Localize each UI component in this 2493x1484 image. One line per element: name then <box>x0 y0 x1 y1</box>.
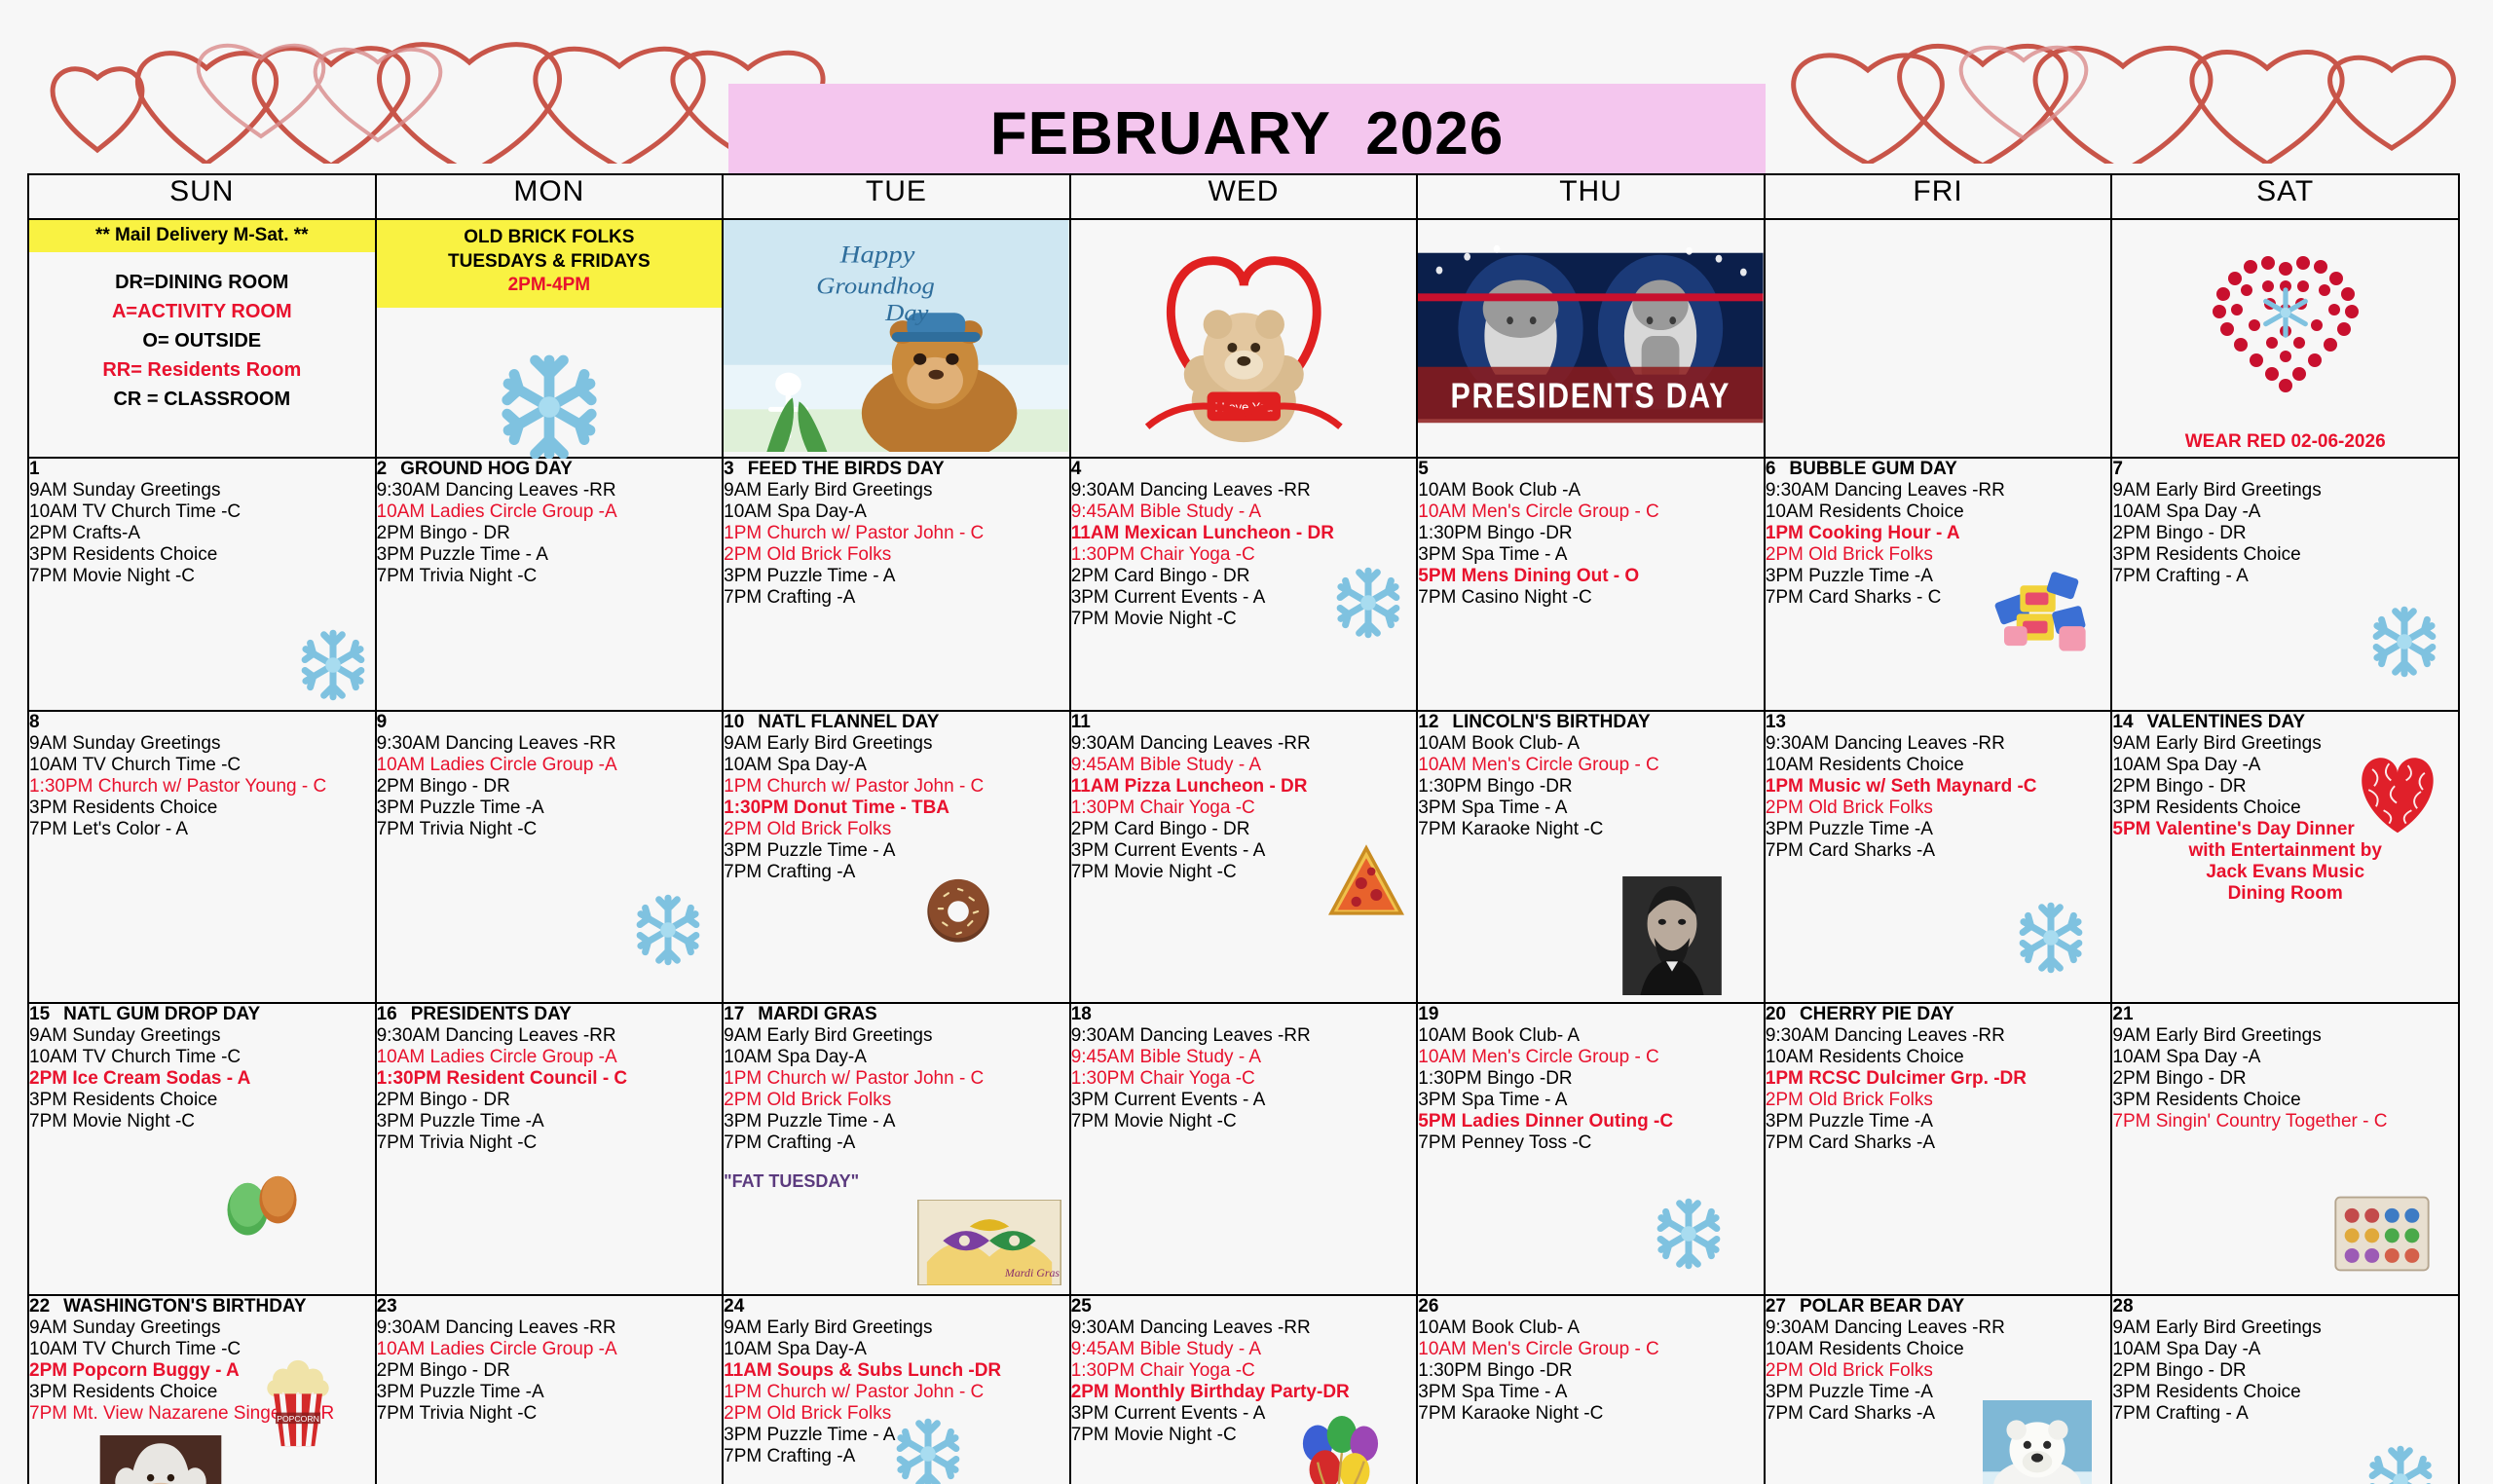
event-item[interactable]: 1:30PM Church w/ Pastor Young - C <box>29 776 375 798</box>
holiday-label: LINCOLN'S BIRTHDAY <box>1452 712 1650 732</box>
event-item[interactable]: 2PM Bingo - DR <box>377 1090 723 1111</box>
day-cell-9[interactable]: 99:30AM Dancing Leaves -RR10AM Ladies Ci… <box>376 711 724 1003</box>
event-item[interactable]: 9AM Early Bird Greetings <box>2112 1025 2458 1047</box>
event-item[interactable]: 9:45AM Bible Study - A <box>1071 1339 1417 1360</box>
day-cell-11[interactable]: 119:30AM Dancing Leaves -RR9:45AM Bible … <box>1070 711 1418 1003</box>
day-number: 28 <box>2112 1296 2133 1317</box>
day-header: 22WASHINGTON'S BIRTHDAY <box>29 1296 375 1317</box>
event-item[interactable]: 3PM Puzzle Time -A <box>377 1382 723 1403</box>
event-item[interactable]: 3PM Residents Choice <box>2112 1382 2458 1403</box>
info-empty-fri <box>1765 219 2112 458</box>
event-item[interactable]: 2PM Old Brick Folks <box>1766 1360 2111 1382</box>
week-row-3: 15NATL GUM DROP DAY9AM Sunday Greetings1… <box>28 1003 2459 1295</box>
day-header: 4 <box>1071 459 1417 480</box>
event-item[interactable]: 9:30AM Dancing Leaves -RR <box>1071 480 1417 501</box>
day-number: 18 <box>1071 1004 1092 1024</box>
event-item[interactable]: 10AM Residents Choice <box>1766 755 2111 776</box>
snowflake-icon <box>464 349 634 465</box>
weekday-sat: SAT <box>2111 174 2459 219</box>
event-item[interactable]: 10AM Men's Circle Group - C <box>1418 755 1764 776</box>
day-header: 8 <box>29 712 375 733</box>
day-number: 27 <box>1766 1296 1786 1317</box>
day-cell-1[interactable]: 19AM Sunday Greetings10AM TV Church Time… <box>28 458 376 711</box>
balloons-icon <box>1293 1416 1387 1484</box>
event-item[interactable]: 7PM Crafting -A <box>724 1132 1069 1154</box>
event-item[interactable]: 1PM RCSC Dulcimer Grp. -DR <box>1766 1068 2111 1090</box>
event-item[interactable]: 1:30PM Bingo -DR <box>1418 1360 1764 1382</box>
event-item[interactable]: 3PM Residents Choice <box>2112 544 2458 566</box>
event-item[interactable]: 7PM Trivia Night -C <box>377 1403 723 1425</box>
event-item[interactable]: 1PM Church w/ Pastor John - C <box>724 776 1069 798</box>
day-header: 14VALENTINES DAY <box>2112 712 2458 733</box>
mardi-gras-card-icon: Mardi Gras <box>917 1200 1061 1285</box>
event-item[interactable]: 10AM Men's Circle Group - C <box>1418 1047 1764 1068</box>
legend-line-o: O= OUTSIDE <box>29 326 375 355</box>
bingo-card-icon-wrap <box>2331 1192 2433 1280</box>
wear-red-cell: WEAR RED 02-06-2026 <box>2111 219 2459 458</box>
day-cell-25[interactable]: 259:30AM Dancing Leaves -RR9:45AM Bible … <box>1070 1295 1418 1484</box>
event-item[interactable]: 7PM Penney Toss -C <box>1418 1132 1764 1154</box>
snowflake-icon <box>1651 1196 1727 1272</box>
event-item[interactable]: 3PM Puzzle Time -A <box>377 1111 723 1132</box>
event-item[interactable]: 1:30PM Chair Yoga -C <box>1071 798 1417 819</box>
holiday-label: GROUND HOG DAY <box>400 459 573 479</box>
event-item[interactable]: 7PM Movie Night -C <box>1071 1111 1417 1132</box>
event-item[interactable]: 9:30AM Dancing Leaves -RR <box>377 1317 723 1339</box>
old-brick-folks-cell: OLD BRICK FOLKS TUESDAYS & FRIDAYS 2PM-4… <box>376 219 724 458</box>
event-item[interactable]: 10AM Men's Circle Group - C <box>1418 501 1764 523</box>
event-item[interactable]: 10AM Spa Day -A <box>2112 501 2458 523</box>
event-item[interactable]: 7PM Movie Night -C <box>29 566 375 587</box>
washington-portrait-photo <box>99 1435 222 1484</box>
info-row: ** Mail Delivery M-Sat. ** DR=DINING ROO… <box>28 219 2459 458</box>
day-header: 17MARDI GRAS <box>724 1004 1069 1025</box>
event-item[interactable]: 10AM TV Church Time -C <box>29 1047 375 1068</box>
event-item[interactable]: 11AM Soups & Subs Lunch -DR <box>724 1360 1069 1382</box>
donut-icon <box>923 876 993 946</box>
day-header: 28 <box>2112 1296 2458 1317</box>
day-number: 14 <box>2112 712 2133 732</box>
snowflake-icon <box>2366 604 2442 680</box>
event-item[interactable]: Jack Evans Music <box>2112 862 2458 883</box>
holiday-label: FEED THE BIRDS DAY <box>748 459 945 479</box>
day-cell-7[interactable]: 79AM Early Bird Greetings10AM Spa Day -A… <box>2111 458 2459 711</box>
event-item[interactable]: 7PM Trivia Night -C <box>377 819 723 840</box>
weekday-sun: SUN <box>28 174 376 219</box>
event-item[interactable]: 1PM Church w/ Pastor John - C <box>724 1068 1069 1090</box>
event-item[interactable]: 1PM Church w/ Pastor John - C <box>724 1382 1069 1403</box>
donut-icon-wrap <box>923 876 993 951</box>
day-cell-13[interactable]: 139:30AM Dancing Leaves -RR10AM Resident… <box>1765 711 2112 1003</box>
event-item[interactable]: 10AM Ladies Circle Group -A <box>377 755 723 776</box>
day-header: 2GROUND HOG DAY <box>377 459 723 480</box>
day-cell-21[interactable]: 219AM Early Bird Greetings10AM Spa Day -… <box>2111 1003 2459 1295</box>
day-header: 25 <box>1071 1296 1417 1317</box>
day-header: 20CHERRY PIE DAY <box>1766 1004 2111 1025</box>
event-item[interactable]: 7PM Crafting -A <box>724 587 1069 609</box>
snowflake-icon <box>295 627 371 703</box>
day-cell-28[interactable]: 289AM Early Bird Greetings10AM Spa Day -… <box>2111 1295 2459 1484</box>
day-number: 2 <box>377 459 388 479</box>
page-title: FEBRUARY 2026 <box>990 99 1504 168</box>
event-item[interactable]: 1:30PM Bingo -DR <box>1418 523 1764 544</box>
day-number: 26 <box>1418 1296 1438 1317</box>
snowflake-icon-wrap <box>2363 1443 2438 1484</box>
svg-text:Happy: Happy <box>839 241 916 268</box>
event-item[interactable]: 10AM Ladies Circle Group -A <box>377 1047 723 1068</box>
event-item[interactable]: 3PM Puzzle Time -A <box>377 798 723 819</box>
day-number: 13 <box>1766 712 1786 732</box>
event-item[interactable]: 2PM Ice Cream Sodas - A <box>29 1068 375 1090</box>
day-cell-17[interactable]: 17MARDI GRAS9AM Early Bird Greetings10AM… <box>723 1003 1070 1295</box>
wear-red-note: WEAR RED 02-06-2026 <box>2112 431 2458 453</box>
day-header: 5 <box>1418 459 1764 480</box>
event-item[interactable]: 10AM Residents Choice <box>1766 1047 2111 1068</box>
event-item[interactable]: 10AM Book Club- A <box>1418 1317 1764 1339</box>
weekday-header-row: SUN MON TUE WED THU FRI SAT <box>28 174 2459 219</box>
event-item[interactable]: 9:30AM Dancing Leaves -RR <box>377 480 723 501</box>
event-item[interactable]: 7PM Trivia Night -C <box>377 566 723 587</box>
bingo-card-icon <box>2331 1192 2433 1276</box>
event-item[interactable]: 9:30AM Dancing Leaves -RR <box>1071 1317 1417 1339</box>
month-title-box: FEBRUARY 2026 <box>728 84 1766 183</box>
presidents-day-banner-icon: PRESIDENTS DAY <box>1418 220 1764 452</box>
weekday-fri: FRI <box>1765 174 2112 219</box>
event-item[interactable]: 2PM Old Brick Folks <box>724 1090 1069 1111</box>
snowflake-icon <box>630 892 706 968</box>
event-item[interactable]: 9:30AM Dancing Leaves -RR <box>377 1025 723 1047</box>
event-item[interactable]: 2PM Bingo - DR <box>377 523 723 544</box>
event-item[interactable]: 2PM Old Brick Folks <box>1766 798 2111 819</box>
day-header: 16PRESIDENTS DAY <box>377 1004 723 1025</box>
day-cell-4[interactable]: 49:30AM Dancing Leaves -RR9:45AM Bible S… <box>1070 458 1418 711</box>
svg-text:POPCORN: POPCORN <box>277 1414 319 1424</box>
snowflake-icon-wrap <box>890 1416 966 1484</box>
event-item[interactable]: 1:30PM Donut Time - TBA <box>724 798 1069 819</box>
day-number: 1 <box>29 459 40 479</box>
obf-line2: TUESDAYS & FRIDAYS <box>379 250 721 275</box>
event-item[interactable]: 1:30PM Bingo -DR <box>1418 1068 1764 1090</box>
calendar-page: FEBRUARY 2026 SUN MON TUE WED THU FRI SA… <box>0 0 2493 1484</box>
obf-line3: 2PM-4PM <box>379 274 721 298</box>
event-item[interactable]: 3PM Spa Time - A <box>1418 798 1764 819</box>
event-item[interactable]: 9AM Early Bird Greetings <box>2112 480 2458 501</box>
event-item[interactable]: 10AM Spa Day -A <box>2112 1339 2458 1360</box>
snowflake-icon <box>2257 284 2314 341</box>
event-item[interactable]: 2PM Old Brick Folks <box>1766 1090 2111 1111</box>
event-item[interactable]: 10AM Spa Day-A <box>724 1047 1069 1068</box>
day-footnote: "FAT TUESDAY" <box>724 1171 1069 1192</box>
day-header: 7 <box>2112 459 2458 480</box>
event-item[interactable]: 2PM Monthly Birthday Party-DR <box>1071 1382 1417 1403</box>
holiday-label: NATL FLANNEL DAY <box>758 712 939 732</box>
event-item[interactable]: 11AM Pizza Luncheon - DR <box>1071 776 1417 798</box>
event-item[interactable]: with Entertainment by <box>2112 840 2458 862</box>
week-row-2: 89AM Sunday Greetings10AM TV Church Time… <box>28 711 2459 1003</box>
day-cell-15[interactable]: 15NATL GUM DROP DAY9AM Sunday Greetings1… <box>28 1003 376 1295</box>
popcorn-icon: POPCORN <box>250 1356 346 1450</box>
event-item[interactable]: 2PM Crafts-A <box>29 523 375 544</box>
snowflake-icon <box>2013 900 2089 976</box>
day-number: 24 <box>724 1296 744 1317</box>
popcorn-icon-wrap: POPCORN <box>250 1356 346 1455</box>
day-cell-26[interactable]: 2610AM Book Club- A10AM Men's Circle Gro… <box>1417 1295 1765 1484</box>
day-number: 23 <box>377 1296 397 1317</box>
event-item[interactable]: 9:30AM Dancing Leaves -RR <box>1766 1025 2111 1047</box>
event-item[interactable]: 1PM Church w/ Pastor John - C <box>724 523 1069 544</box>
event-item[interactable]: 3PM Puzzle Time - A <box>377 544 723 566</box>
groundhog-day-card-icon: Happy Groundhog Day <box>724 220 1069 452</box>
snowflake-icon-wrap <box>630 892 706 973</box>
day-number: 6 <box>1766 459 1776 479</box>
day-header: 18 <box>1071 1004 1417 1025</box>
event-item[interactable]: 3PM Residents Choice <box>29 1090 375 1111</box>
event-item[interactable]: 10AM TV Church Time -C <box>29 501 375 523</box>
event-item[interactable]: 9AM Sunday Greetings <box>29 1025 375 1047</box>
event-item[interactable]: 2PM Bingo - DR <box>377 1360 723 1382</box>
day-cell-16[interactable]: 16PRESIDENTS DAY9:30AM Dancing Leaves -R… <box>376 1003 724 1295</box>
holiday-label: POLAR BEAR DAY <box>1800 1296 1964 1317</box>
day-number: 16 <box>377 1004 397 1024</box>
event-item[interactable]: 9AM Sunday Greetings <box>29 1317 375 1339</box>
day-header: 26 <box>1418 1296 1764 1317</box>
event-item[interactable]: 9:30AM Dancing Leaves -RR <box>1766 480 2111 501</box>
svg-text:Mardi Gras: Mardi Gras <box>1004 1266 1060 1280</box>
event-item[interactable]: 9AM Early Bird Greetings <box>724 1317 1069 1339</box>
event-item[interactable]: 9AM Early Bird Greetings <box>724 480 1069 501</box>
event-item[interactable]: 10AM Book Club- A <box>1418 1025 1764 1047</box>
day-number: 25 <box>1071 1296 1092 1317</box>
snowflake-icon-wrap <box>2366 604 2442 685</box>
day-number: 15 <box>29 1004 50 1024</box>
event-item[interactable]: 1PM Music w/ Seth Maynard -C <box>1766 776 2111 798</box>
event-item[interactable]: 2PM Bingo - DR <box>2112 1068 2458 1090</box>
event-item[interactable]: 2PM Bingo - DR <box>2112 523 2458 544</box>
washington-portrait-wrap <box>99 1435 222 1484</box>
event-item[interactable]: 3PM Residents Choice <box>29 798 375 819</box>
snowflake-icon <box>890 1416 966 1484</box>
day-cell-10[interactable]: 10NATL FLANNEL DAY9AM Early Bird Greetin… <box>723 711 1070 1003</box>
event-item[interactable]: 10AM Spa Day-A <box>724 501 1069 523</box>
event-item[interactable]: 3PM Spa Time - A <box>1418 544 1764 566</box>
day-header: 6BUBBLE GUM DAY <box>1766 459 2111 480</box>
event-item[interactable]: 10AM Ladies Circle Group -A <box>377 501 723 523</box>
event-item[interactable]: 9AM Early Bird Greetings <box>724 733 1069 755</box>
day-header: 23 <box>377 1296 723 1317</box>
day-header: 3FEED THE BIRDS DAY <box>724 459 1069 480</box>
day-number: 12 <box>1418 712 1438 732</box>
day-cell-2[interactable]: 2GROUND HOG DAY9:30AM Dancing Leaves -RR… <box>376 458 724 711</box>
day-cell-5[interactable]: 510AM Book Club -A10AM Men's Circle Grou… <box>1417 458 1765 711</box>
event-item[interactable]: 1:30PM Chair Yoga -C <box>1071 544 1417 566</box>
legend-line-a: A=ACTIVITY ROOM <box>29 297 375 326</box>
event-item[interactable]: 7PM Let's Color - A <box>29 819 375 840</box>
event-item[interactable]: 1:30PM Chair Yoga -C <box>1071 1068 1417 1090</box>
event-item[interactable]: 9:45AM Bible Study - A <box>1071 1047 1417 1068</box>
event-item[interactable]: 9:30AM Dancing Leaves -RR <box>1766 733 2111 755</box>
event-item[interactable]: 10AM Residents Choice <box>1766 1339 2111 1360</box>
event-item[interactable]: 7PM Karaoke Night -C <box>1418 819 1764 840</box>
event-item[interactable]: 9:30AM Dancing Leaves -RR <box>1071 1025 1417 1047</box>
event-item[interactable]: 9AM Sunday Greetings <box>29 733 375 755</box>
event-item[interactable]: 9:30AM Dancing Leaves -RR <box>377 733 723 755</box>
valentine-bear-cell: I Love You <box>1070 219 1418 458</box>
legend-line-cr: CR = CLASSROOM <box>29 385 375 414</box>
event-item[interactable]: 7PM Karaoke Night -C <box>1418 1403 1764 1425</box>
event-item[interactable]: 3PM Residents Choice <box>29 544 375 566</box>
week-row-1: 19AM Sunday Greetings10AM TV Church Time… <box>28 458 2459 711</box>
event-item[interactable]: 7PM Card Sharks -A <box>1766 1132 2111 1154</box>
event-item[interactable]: 10AM Men's Circle Group - C <box>1418 1339 1764 1360</box>
lincoln-portrait-photo <box>1621 876 1723 995</box>
day-cell-24[interactable]: 249AM Early Bird Greetings10AM Spa Day-A… <box>723 1295 1070 1484</box>
event-item[interactable]: 10AM Book Club- A <box>1418 733 1764 755</box>
mardi-gras-mask-icon-wrap: Mardi Gras <box>917 1200 1061 1290</box>
day-cell-19[interactable]: 1910AM Book Club- A10AM Men's Circle Gro… <box>1417 1003 1765 1295</box>
weekday-thu: THU <box>1417 174 1765 219</box>
svg-text:Day: Day <box>884 301 929 325</box>
heart-of-hearts-icon-wrap <box>2345 745 2450 843</box>
event-item[interactable]: 10AM Spa Day -A <box>2112 1047 2458 1068</box>
day-cell-3[interactable]: 3FEED THE BIRDS DAY9AM Early Bird Greeti… <box>723 458 1070 711</box>
weekday-wed: WED <box>1070 174 1418 219</box>
day-cell-14[interactable]: 14VALENTINES DAY9AM Early Bird Greetings… <box>2111 711 2459 1003</box>
day-number: 7 <box>2112 459 2123 479</box>
day-cell-23[interactable]: 239:30AM Dancing Leaves -RR10AM Ladies C… <box>376 1295 724 1484</box>
event-item[interactable]: 1:30PM Resident Council - C <box>377 1068 723 1090</box>
day-number: 17 <box>724 1004 744 1024</box>
day-cell-18[interactable]: 189:30AM Dancing Leaves -RR9:45AM Bible … <box>1070 1003 1418 1295</box>
event-item[interactable]: 3PM Spa Time - A <box>1418 1382 1764 1403</box>
day-cell-27[interactable]: 27POLAR BEAR DAY9:30AM Dancing Leaves -R… <box>1765 1295 2112 1484</box>
svg-text:Groundhog: Groundhog <box>816 275 935 299</box>
event-item[interactable]: 3PM Puzzle Time - A <box>724 566 1069 587</box>
holiday-label: WASHINGTON'S BIRTHDAY <box>63 1296 306 1317</box>
day-cell-12[interactable]: 12LINCOLN'S BIRTHDAY10AM Book Club- A10A… <box>1417 711 1765 1003</box>
event-item[interactable]: 7PM Movie Night -C <box>29 1111 375 1132</box>
event-item[interactable]: 10AM TV Church Time -C <box>29 755 375 776</box>
event-item[interactable]: 10AM Ladies Circle Group -A <box>377 1339 723 1360</box>
gum-drops-icon <box>215 1163 309 1239</box>
event-item[interactable]: 11AM Mexican Luncheon - DR <box>1071 523 1417 544</box>
event-item[interactable]: 9:45AM Bible Study - A <box>1071 755 1417 776</box>
day-header: 9 <box>377 712 723 733</box>
event-item[interactable]: 7PM Card Sharks -A <box>1766 840 2111 862</box>
holiday-label: NATL GUM DROP DAY <box>63 1004 260 1024</box>
presidents-day-cell: PRESIDENTS DAY <box>1417 219 1765 458</box>
event-item[interactable]: 7PM Crafting -A <box>724 862 1069 883</box>
balloons-icon-wrap <box>1293 1416 1387 1484</box>
event-item[interactable]: 9:30AM Dancing Leaves -RR <box>1766 1317 2111 1339</box>
event-item[interactable]: 9:45AM Bible Study - A <box>1071 501 1417 523</box>
day-number: 10 <box>724 712 744 732</box>
event-item[interactable]: 2PM Old Brick Folks <box>724 544 1069 566</box>
page-banner: FEBRUARY 2026 <box>0 18 2493 164</box>
event-item[interactable]: 1PM Cooking Hour - A <box>1766 523 2111 544</box>
day-number: 4 <box>1071 459 1082 479</box>
event-item[interactable]: 5PM Mens Dining Out - O <box>1418 566 1764 587</box>
old-brick-folks-note: OLD BRICK FOLKS TUESDAYS & FRIDAYS 2PM-4… <box>377 220 723 308</box>
event-item[interactable]: 2PM Bingo - DR <box>377 776 723 798</box>
event-item[interactable]: 5PM Ladies Dinner Outing -C <box>1418 1111 1764 1132</box>
event-item[interactable]: 7PM Crafting - A <box>2112 566 2458 587</box>
event-item[interactable]: 1:30PM Bingo -DR <box>1418 776 1764 798</box>
holiday-label: PRESIDENTS DAY <box>411 1004 572 1024</box>
day-cell-6[interactable]: 6BUBBLE GUM DAY9:30AM Dancing Leaves -RR… <box>1765 458 2112 711</box>
event-item[interactable]: 3PM Current Events - A <box>1071 1090 1417 1111</box>
event-item[interactable]: 10AM Residents Choice <box>1766 501 2111 523</box>
obf-line1: OLD BRICK FOLKS <box>379 226 721 250</box>
polar-bear-photo-wrap <box>1982 1400 2093 1484</box>
groundhog-card-cell: Happy Groundhog Day <box>723 219 1070 458</box>
day-header: 21 <box>2112 1004 2458 1025</box>
day-number: 20 <box>1766 1004 1786 1024</box>
holiday-label: MARDI GRAS <box>758 1004 876 1024</box>
event-item[interactable]: 2PM Bingo - DR <box>2112 1360 2458 1382</box>
legend-line-rr: RR= Residents Room <box>29 355 375 385</box>
calendar-table: SUN MON TUE WED THU FRI SAT ** Mail Deli… <box>27 173 2460 1484</box>
event-item[interactable]: 10AM Book Club -A <box>1418 480 1764 501</box>
event-item[interactable]: 7PM Singin' Country Together - C <box>2112 1111 2458 1132</box>
event-item[interactable]: 3PM Puzzle Time - A <box>724 1111 1069 1132</box>
event-item[interactable]: 9AM Early Bird Greetings <box>2112 1317 2458 1339</box>
bubble-gum-icon-wrap <box>1990 559 2097 661</box>
event-item[interactable]: 3PM Spa Time - A <box>1418 1090 1764 1111</box>
holiday-label: CHERRY PIE DAY <box>1800 1004 1954 1024</box>
snowflake-icon-wrap <box>295 627 371 708</box>
day-cell-20[interactable]: 20CHERRY PIE DAY9:30AM Dancing Leaves -R… <box>1765 1003 2112 1295</box>
event-item[interactable]: 9AM Sunday Greetings <box>29 480 375 501</box>
event-item[interactable]: 7PM Crafting - A <box>2112 1403 2458 1425</box>
event-item[interactable]: 2PM Card Bingo - DR <box>1071 819 1417 840</box>
day-number: 3 <box>724 459 734 479</box>
svg-text:PRESIDENTS DAY: PRESIDENTS DAY <box>1451 377 1731 416</box>
day-cell-22[interactable]: 22WASHINGTON'S BIRTHDAY9AM Sunday Greeti… <box>28 1295 376 1484</box>
day-header: 24 <box>724 1296 1069 1317</box>
day-number: 22 <box>29 1296 50 1317</box>
event-item[interactable]: 3PM Puzzle Time -A <box>1766 1111 2111 1132</box>
event-item[interactable]: 1:30PM Chair Yoga -C <box>1071 1360 1417 1382</box>
day-header: 13 <box>1766 712 2111 733</box>
event-item[interactable]: 3PM Puzzle Time -A <box>1766 819 2111 840</box>
event-item[interactable]: Dining Room <box>2112 883 2458 905</box>
event-item[interactable]: 7PM Casino Night -C <box>1418 587 1764 609</box>
legend-line-dr: DR=DINING ROOM <box>29 268 375 297</box>
polar-bear-photo <box>1982 1400 2093 1484</box>
pizza-icon-wrap <box>1324 841 1408 930</box>
heart-of-hearts-icon <box>2345 745 2450 838</box>
event-item[interactable]: 9AM Early Bird Greetings <box>724 1025 1069 1047</box>
day-cell-8[interactable]: 89AM Sunday Greetings10AM TV Church Time… <box>28 711 376 1003</box>
event-item[interactable]: 9:30AM Dancing Leaves -RR <box>1071 733 1417 755</box>
day-number: 21 <box>2112 1004 2133 1024</box>
event-item[interactable]: 2PM Old Brick Folks <box>724 819 1069 840</box>
snowflake-icon <box>1330 565 1406 641</box>
valentine-teddy-bear-icon: I Love You <box>1071 220 1417 452</box>
event-item[interactable]: 7PM Trivia Night -C <box>377 1132 723 1154</box>
holiday-label: BUBBLE GUM DAY <box>1789 459 1956 479</box>
event-item[interactable]: 3PM Puzzle Time - A <box>724 840 1069 862</box>
event-item[interactable]: 10AM Spa Day-A <box>724 755 1069 776</box>
snowflake-icon-wrap <box>2013 900 2089 981</box>
snowflake-icon-wrap <box>1651 1196 1727 1277</box>
day-header: 15NATL GUM DROP DAY <box>29 1004 375 1025</box>
weekday-tue: TUE <box>723 174 1070 219</box>
event-item[interactable]: 10AM Spa Day-A <box>724 1339 1069 1360</box>
legend-cell: ** Mail Delivery M-Sat. ** DR=DINING ROO… <box>28 219 376 458</box>
event-item[interactable]: 3PM Residents Choice <box>2112 1090 2458 1111</box>
day-header: 27POLAR BEAR DAY <box>1766 1296 2111 1317</box>
